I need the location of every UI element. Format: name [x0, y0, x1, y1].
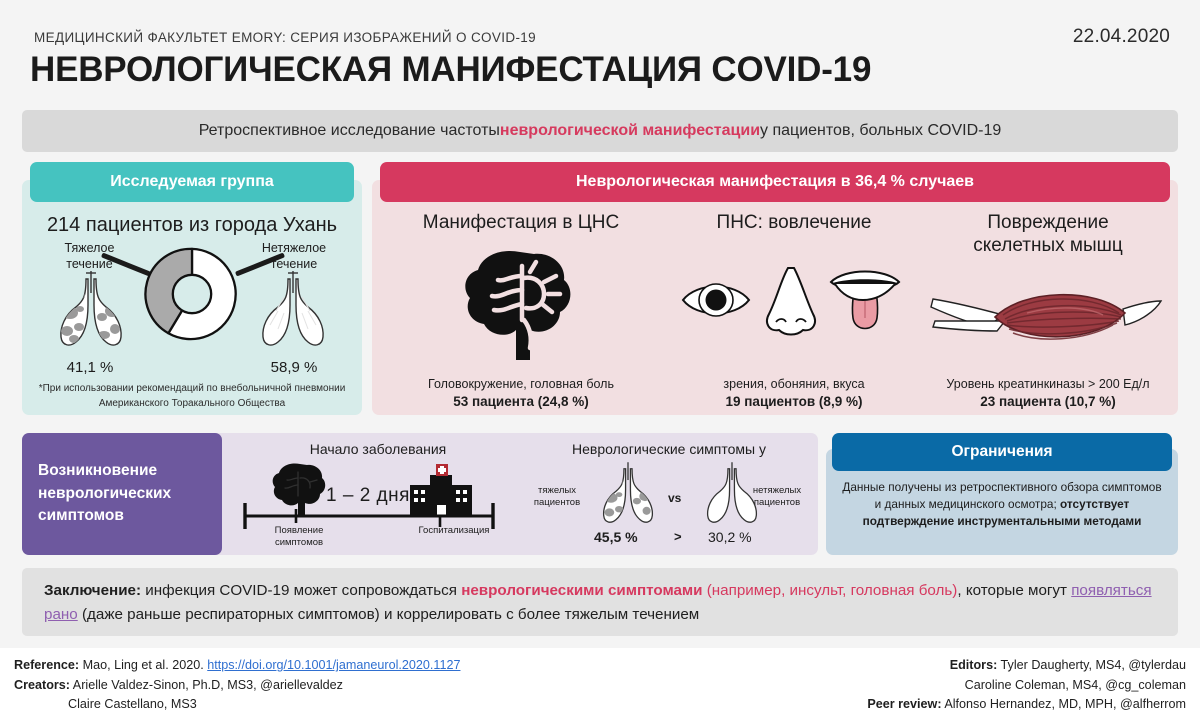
editors-2: Caroline Coleman, MS4, @cg_coleman: [965, 678, 1186, 692]
limitations-panel: Ограничения Данные получены из ретроспек…: [826, 433, 1178, 555]
study-group-footnote: *При использовании рекомендаций по внебо…: [36, 382, 348, 411]
page-header: МЕДИЦИНСКИЙ ФАКУЛЬТЕТ EMORY: СЕРИЯ ИЗОБР…: [0, 0, 1200, 100]
conclusion-lead: Заключение:: [44, 582, 141, 599]
timeline-caption-right: Госпитализация: [406, 525, 502, 537]
footer-creators-line-1: Creators: Arielle Valdez-Sinon, Ph.D, MS…: [14, 676, 460, 696]
study-group-title: 214 пациентов из города Ухань: [22, 214, 362, 237]
limitations-text: Данные получены из ретроспективного обзо…: [840, 479, 1164, 529]
pns-title: ПНС: вовлечение: [717, 212, 872, 235]
creators-1: Arielle Valdez-Sinon, Ph.D, MS3, @ariell…: [70, 678, 343, 692]
study-group-header: Исследуемая группа: [30, 162, 354, 202]
conclusion-p4: (даже раньше респираторных симптомов) и …: [78, 606, 700, 623]
footer-reference-line: Reference: Mao, Ling et al. 2020. https:…: [14, 656, 460, 676]
onset-comparison: Неврологические симптомы у тяжелых пацие…: [522, 437, 816, 551]
neuro-columns: Манифестация в ЦНС: [372, 206, 1178, 411]
comparison-label-severe: тяжелых пациентов: [524, 485, 590, 510]
pns-caption-text: зрения, обоняния, вкуса: [723, 377, 864, 391]
neuro-column-cns: Манифестация в ЦНС: [372, 206, 670, 411]
conclusion-p2: (например, инсульт, головная боль): [703, 582, 958, 599]
editors-label: Editors:: [950, 658, 998, 672]
header-kicker: МЕДИЦИНСКИЙ ФАКУЛЬТЕТ EMORY: СЕРИЯ ИЗОБР…: [34, 30, 536, 45]
editors-1: Tyler Daugherty, MS4, @tylerdau: [997, 658, 1186, 672]
cns-title: Манифестация в ЦНС: [423, 212, 619, 235]
footer-creators-line-2: Claire Castellano, MS3: [14, 695, 460, 715]
creators-label: Creators:: [14, 678, 70, 692]
neuro-panel-header: Неврологическая манифестация в 36,4 % сл…: [380, 162, 1170, 202]
pns-caption: зрения, обоняния, вкуса 19 пациентов (8,…: [723, 376, 864, 411]
cns-caption-text: Головокружение, головная боль: [428, 377, 614, 391]
neuro-column-pns: ПНС: вовлечение: [670, 206, 918, 411]
muscle-icon: [927, 281, 1169, 353]
neuro-column-muscle: Повреждение скелетных мышц: [918, 206, 1178, 411]
subtitle-bar: Ретроспективное исследование частоты нев…: [22, 110, 1178, 152]
comparison-operator: >: [674, 529, 682, 544]
muscle-title: Повреждение скелетных мышц: [973, 212, 1122, 258]
study-group-panel: Исследуемая группа 214 пациентов из горо…: [22, 162, 362, 415]
timeline-caption-left: Появление симптомов: [256, 525, 342, 550]
limitations-header: Ограничения: [832, 433, 1172, 471]
cns-value: 53 пациента (24,8 %): [453, 394, 589, 409]
donut-chart-icon: [144, 246, 240, 342]
onset-timeline: Начало заболевания: [228, 437, 528, 551]
comparison-pct-severe: 45,5 %: [594, 529, 638, 545]
eye-nose-tongue-icon: [679, 262, 909, 348]
lungs-severe-icon: [52, 267, 130, 351]
pct-nonsevere: 58,9 %: [248, 359, 340, 376]
neuro-manifestation-panel: Неврологическая манифестация в 36,4 % сл…: [372, 162, 1178, 415]
footer-right: Editors: Tyler Daugherty, MS4, @tylerdau…: [867, 656, 1186, 715]
lungs-severe-small-icon: [594, 459, 662, 527]
cns-art: [372, 235, 670, 376]
pct-severe: 41,1 %: [44, 359, 136, 376]
footer-editors-line-2: Caroline Coleman, MS4, @cg_coleman: [867, 676, 1186, 696]
comparison-pct-nonsevere: 30,2 %: [708, 529, 752, 545]
onset-panel: Возникновение неврологических симптомов …: [22, 433, 818, 555]
creators-2: Claire Castellano, MS3: [68, 697, 197, 711]
muscle-art: [918, 258, 1178, 376]
brain-icon: [456, 246, 586, 364]
lungs-nonsevere-icon: [254, 267, 332, 351]
peer-1: Alfonso Hernandez, MD, MPH, @alfherrom: [942, 697, 1186, 711]
page-footer: Reference: Mao, Ling et al. 2020. https:…: [0, 648, 1200, 720]
muscle-value: 23 пациента (10,7 %): [980, 394, 1116, 409]
page-title: НЕВРОЛОГИЧЕСКАЯ МАНИФЕСТАЦИЯ COVID-19: [30, 50, 871, 90]
conclusion-box: Заключение: инфекция COVID-19 может сопр…: [22, 568, 1178, 636]
reference-link[interactable]: https://doi.org/10.1001/jamaneurol.2020.…: [207, 658, 460, 672]
lungs-nonsevere-small-icon: [698, 459, 766, 527]
timeline-duration: 1 – 2 дня: [326, 485, 410, 507]
muscle-caption-text: Уровень креатинкиназы > 200 Ед/л: [946, 377, 1149, 391]
pns-value: 19 пациентов (8,9 %): [726, 394, 863, 409]
subtitle-before: Ретроспективное исследование частоты: [199, 122, 500, 140]
subtitle-highlight: неврологической манифестации: [500, 122, 760, 140]
muscle-caption: Уровень креатинкиназы > 200 Ед/л 23 паци…: [946, 376, 1149, 411]
reference-label: Reference:: [14, 658, 79, 672]
infographic-page: МЕДИЦИНСКИЙ ФАКУЛЬТЕТ EMORY: СЕРИЯ ИЗОБР…: [0, 0, 1200, 720]
footer-peer-review-line: Peer review: Alfonso Hernandez, MD, MPH,…: [867, 695, 1186, 715]
conclusion-p3: , которые могут: [957, 582, 1071, 599]
conclusion-p1: инфекция COVID-19 может сопровождаться: [141, 582, 461, 599]
reference-text: Mao, Ling et al. 2020.: [79, 658, 207, 672]
footer-editors-line-1: Editors: Tyler Daugherty, MS4, @tylerdau: [867, 656, 1186, 676]
pns-art: [670, 235, 918, 376]
peer-label: Peer review:: [867, 697, 941, 711]
onset-panel-header: Возникновение неврологических симптомов: [22, 433, 222, 555]
comparison-vs: vs: [668, 491, 681, 505]
conclusion-highlight: неврологическими симптомами: [461, 582, 702, 599]
header-date: 22.04.2020: [1073, 26, 1170, 48]
cns-caption: Головокружение, головная боль 53 пациент…: [428, 376, 614, 411]
comparison-title: Неврологические симптомы у: [522, 441, 816, 457]
subtitle-after: у пациентов, больных COVID-19: [760, 122, 1001, 140]
footer-left: Reference: Mao, Ling et al. 2020. https:…: [14, 656, 460, 715]
